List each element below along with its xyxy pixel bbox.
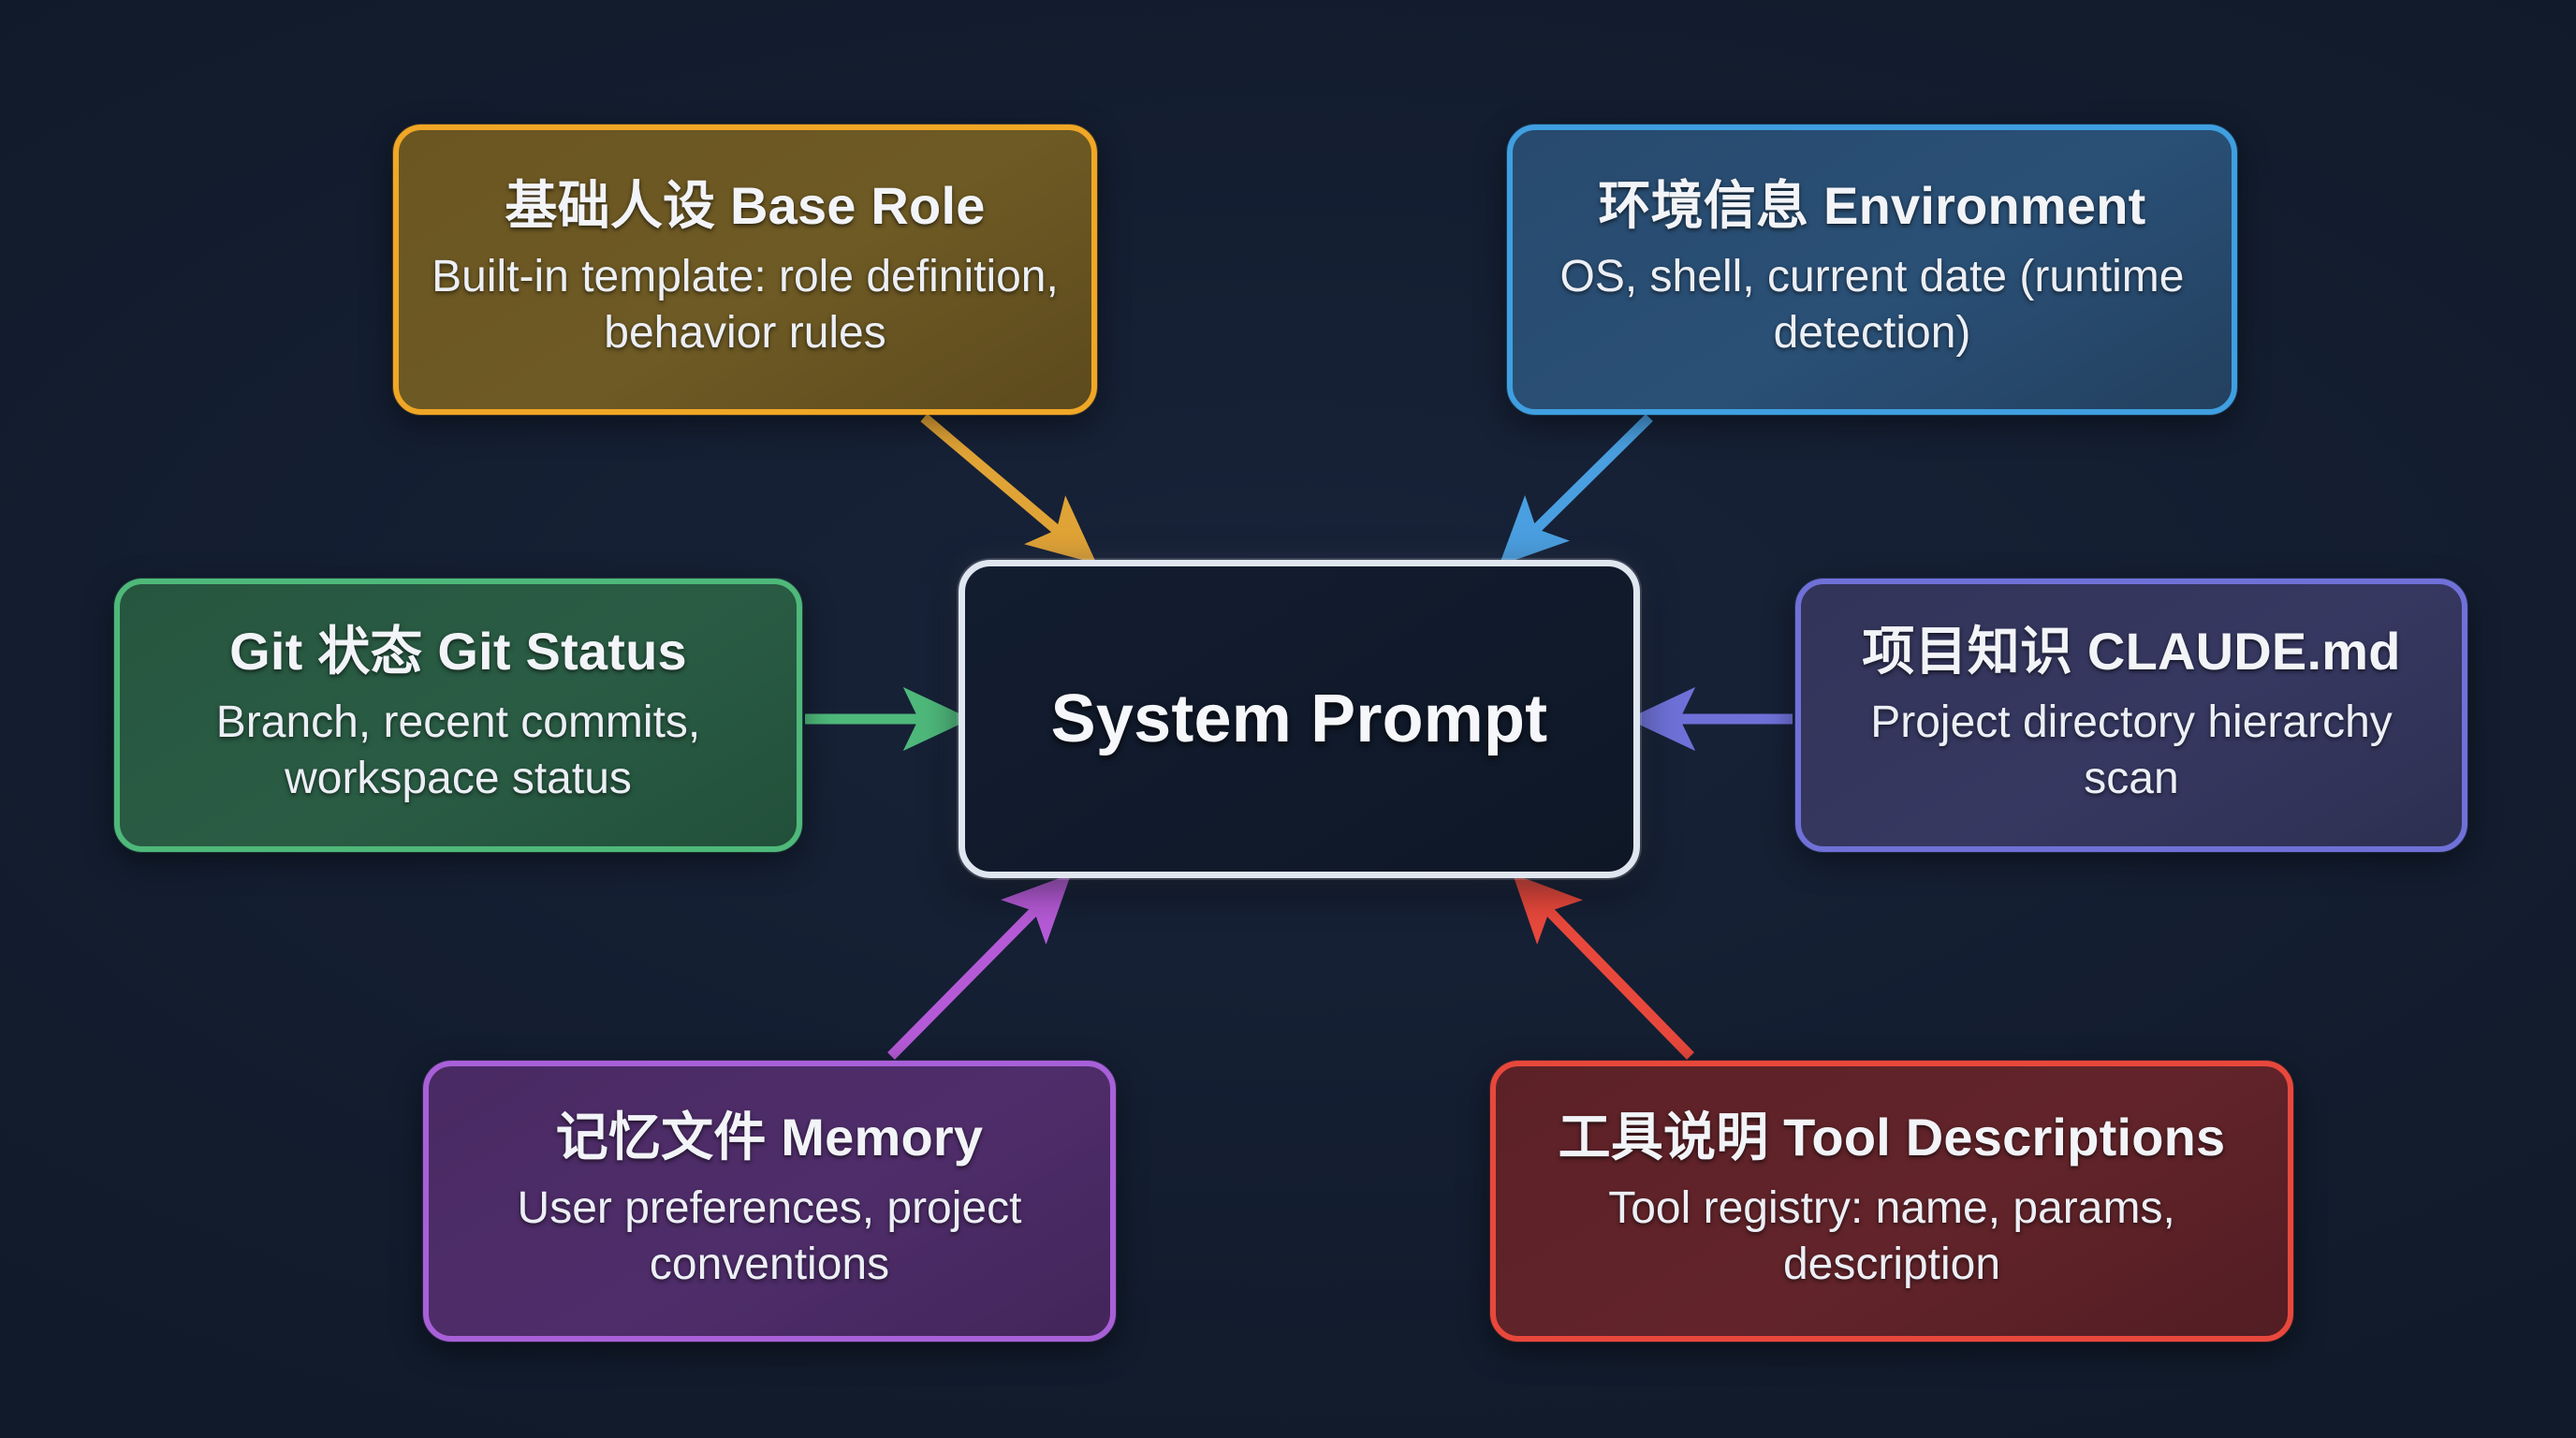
node-git-status[interactable]: Git 状态 Git Status Branch, recent commits… [114,579,802,852]
node-git-status-title: Git 状态 Git Status [229,623,687,682]
node-environment-desc: OS, shell, current date (runtime detecti… [1544,249,2200,362]
node-environment-title: 环境信息 Environment [1598,177,2145,236]
arrow-base-role-to-system-prompt [924,418,1070,541]
node-tool-descriptions-title: 工具说明 Tool Descriptions [1559,1108,2226,1167]
node-environment[interactable]: 环境信息 Environment OS, shell, current date… [1507,125,2237,415]
node-base-role-desc: Built-in template: role definition, beha… [431,249,1060,362]
node-system-prompt[interactable]: System Prompt [959,560,1640,878]
node-system-prompt-title: System Prompt [1051,682,1548,757]
node-tool-descriptions[interactable]: 工具说明 Tool Descriptions Tool registry: na… [1490,1061,2293,1342]
node-base-role[interactable]: 基础人设 Base Role Built-in template: role d… [393,125,1097,415]
node-memory-title: 记忆文件 Memory [556,1108,984,1167]
arrow-tool-descriptions-to-system-prompt [1537,899,1690,1056]
node-base-role-title: 基础人设 Base Role [505,177,985,236]
node-claude-md-title: 项目知识 CLAUDE.md [1862,623,2400,682]
diagram-canvas: System Prompt 基础人设 Base Role Built-in te… [0,0,2576,1438]
arrow-environment-to-system-prompt [1524,418,1649,541]
node-git-status-desc: Branch, recent commits, workspace status [152,695,765,808]
node-tool-descriptions-desc: Tool registry: name, params, description [1528,1181,2256,1294]
node-claude-md-desc: Project directory hierarchy scan [1833,695,2430,808]
node-memory[interactable]: 记忆文件 Memory User preferences, project co… [423,1061,1116,1342]
arrow-memory-to-system-prompt [891,899,1046,1056]
node-memory-desc: User preferences, project conventions [461,1181,1078,1294]
node-claude-md[interactable]: 项目知识 CLAUDE.md Project directory hierarc… [1795,579,2467,852]
